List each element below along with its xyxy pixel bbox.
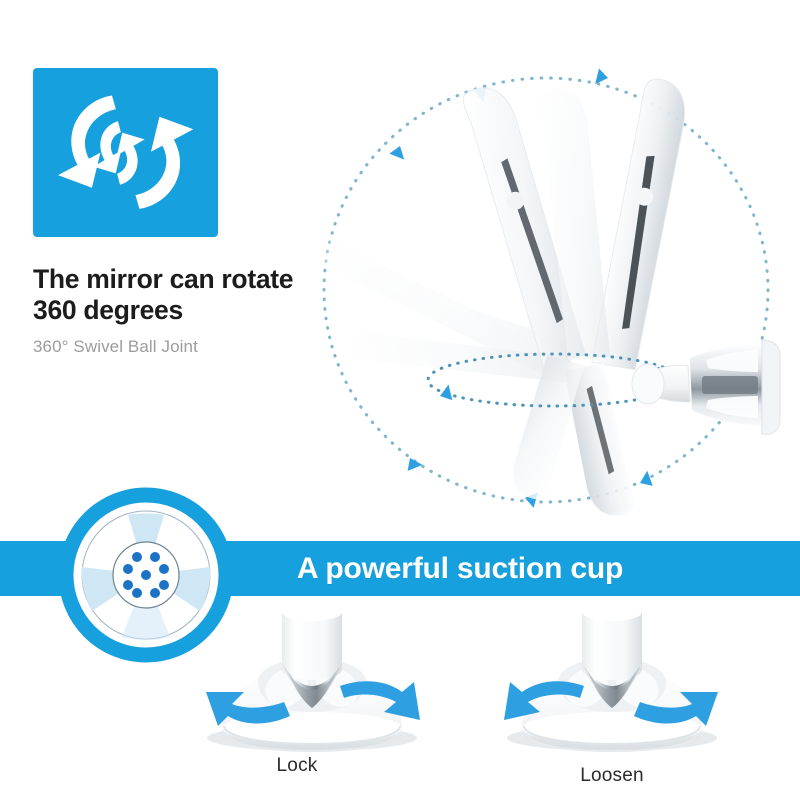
page-title: The mirror can rotate 360 degrees <box>33 264 333 327</box>
mirror-blades <box>461 76 691 520</box>
cup-label-loosen: Loosen <box>512 765 712 787</box>
suction-mount-head <box>690 340 780 434</box>
rotate-360-icon <box>33 68 218 237</box>
feature-subtitle: 360° Swivel Ball Joint <box>33 337 353 357</box>
ball-joint-arm <box>632 364 690 404</box>
product-infographic: The mirror can rotate 360 degrees 360° S… <box>0 0 800 800</box>
suction-cup-lock <box>162 560 462 770</box>
cup-label-lock: Lock <box>197 755 397 777</box>
hero-product-image <box>318 28 800 528</box>
swivel-arrow-left <box>438 385 453 403</box>
suction-cup-loosen <box>462 560 762 770</box>
